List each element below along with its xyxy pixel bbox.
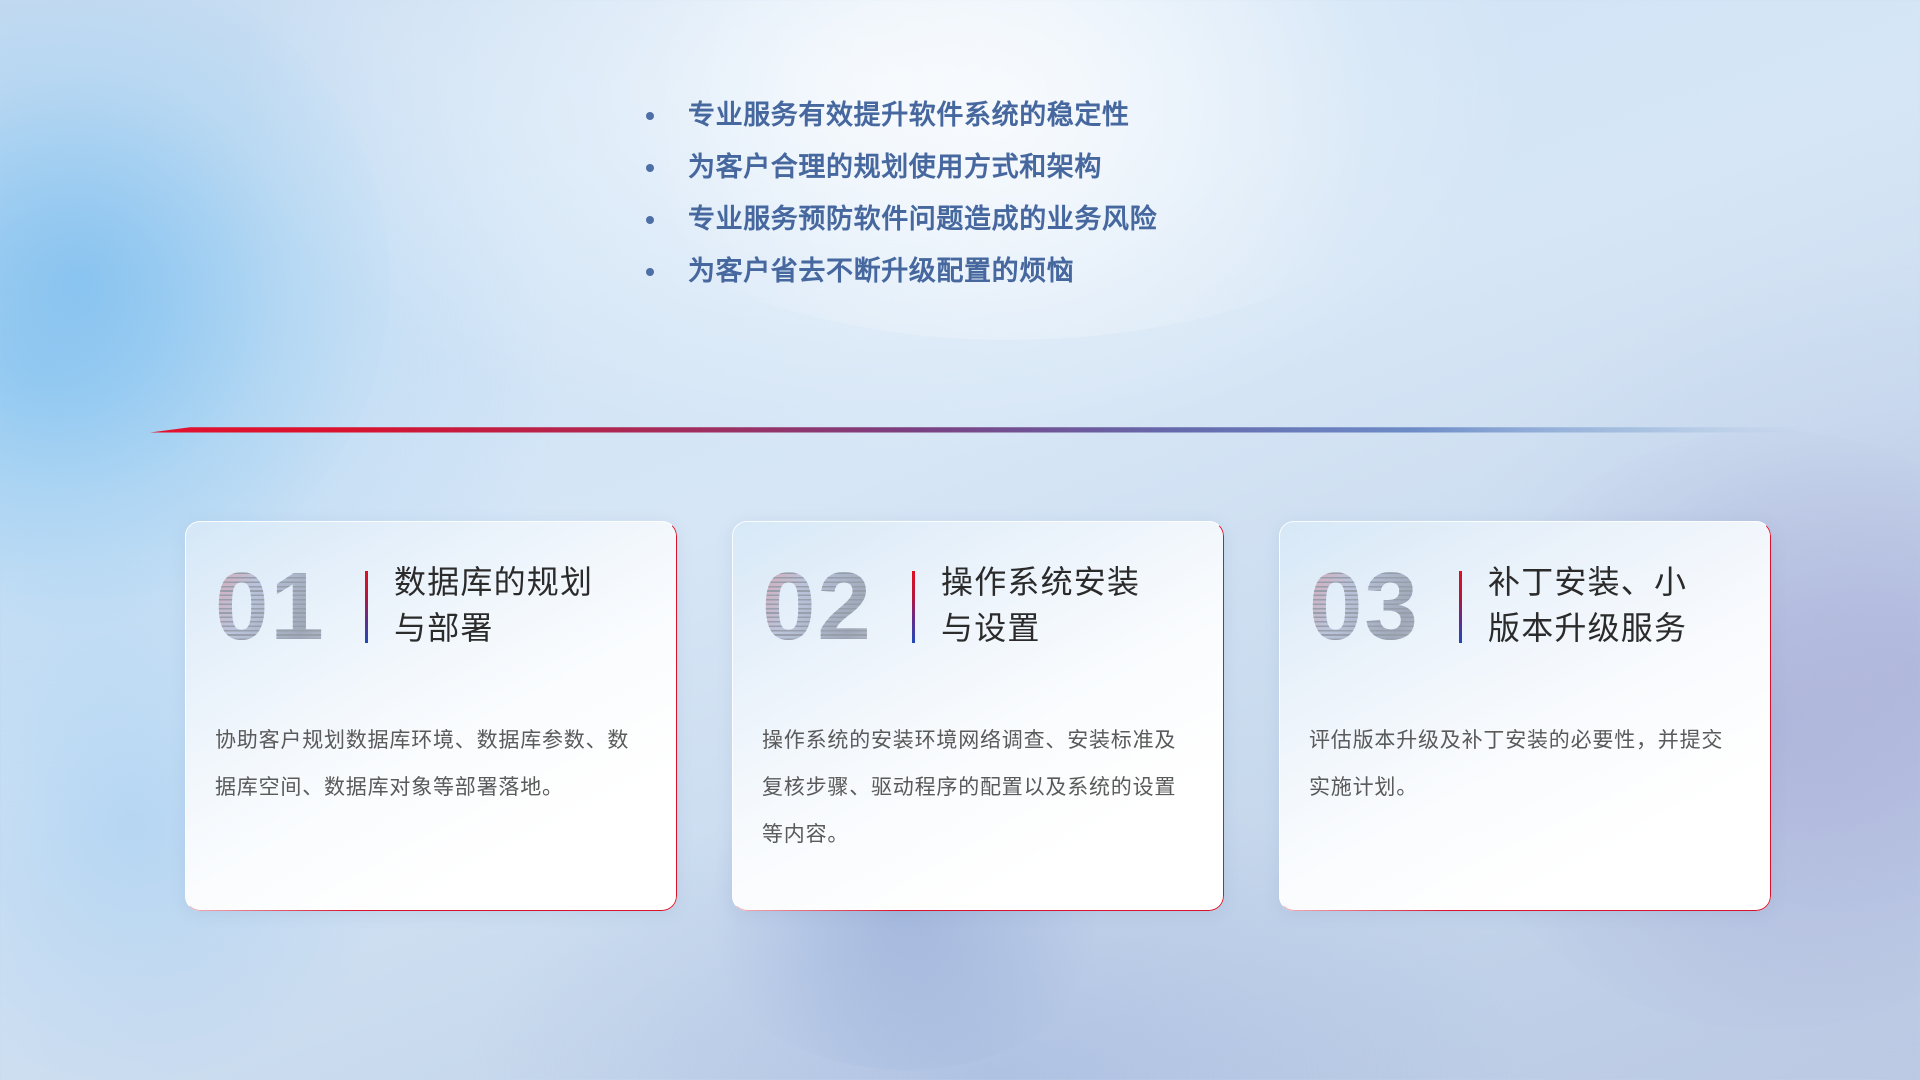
card-title-line-2: 与部署 <box>394 605 593 651</box>
card-number: 03 <box>1309 555 1459 665</box>
bullet-text: 专业服务有效提升软件系统的稳定性 <box>688 96 1130 134</box>
service-card-row: 01 数据库的规划 与部署 协助客户规划数据库环境、数据库参数、数据库空间、数据… <box>185 521 1771 911</box>
section-divider <box>150 418 1810 442</box>
card-title: 数据库的规划 与部署 <box>394 555 593 665</box>
card-number: 02 <box>762 555 912 665</box>
service-card[interactable]: 01 数据库的规划 与部署 协助客户规划数据库环境、数据库参数、数据库空间、数据… <box>185 521 677 911</box>
bullet-dot-icon <box>646 112 654 120</box>
bullet-dot-icon <box>646 164 654 172</box>
bullet-text: 专业服务预防软件问题造成的业务风险 <box>688 200 1157 238</box>
list-item: 为客户合理的规划使用方式和架构 <box>646 148 1546 200</box>
bullet-text: 为客户合理的规划使用方式和架构 <box>688 148 1102 186</box>
list-item: 为客户省去不断升级配置的烦恼 <box>646 252 1546 304</box>
divider-shape-icon <box>150 418 1810 442</box>
card-body-text: 操作系统的安装环境网络调查、安装标准及复核步骤、驱动程序的配置以及系统的设置等内… <box>762 717 1196 858</box>
card-title-line-2: 版本升级服务 <box>1488 605 1687 651</box>
card-title-line-1: 数据库的规划 <box>394 559 593 605</box>
card-accent-bar <box>365 571 368 643</box>
card-body-text: 评估版本升级及补丁安装的必要性，并提交实施计划。 <box>1309 717 1743 811</box>
card-title: 操作系统安装 与设置 <box>941 555 1140 665</box>
service-card[interactable]: 03 补丁安装、小 版本升级服务 评估版本升级及补丁安装的必要性，并提交实施计划… <box>1279 521 1771 911</box>
list-item: 专业服务有效提升软件系统的稳定性 <box>646 96 1546 148</box>
card-header: 01 数据库的规划 与部署 <box>185 555 677 665</box>
card-header: 03 补丁安装、小 版本升级服务 <box>1279 555 1771 665</box>
card-title-line-1: 操作系统安装 <box>941 559 1140 605</box>
card-body-text: 协助客户规划数据库环境、数据库参数、数据库空间、数据库对象等部署落地。 <box>215 717 649 811</box>
card-number: 01 <box>215 555 365 665</box>
card-title-line-1: 补丁安装、小 <box>1488 559 1687 605</box>
card-accent-bar <box>912 571 915 643</box>
bullet-text: 为客户省去不断升级配置的烦恼 <box>688 252 1074 290</box>
background-glow-top-left <box>0 0 390 600</box>
card-title-line-2: 与设置 <box>941 605 1140 651</box>
list-item: 专业服务预防软件问题造成的业务风险 <box>646 200 1546 252</box>
card-title: 补丁安装、小 版本升级服务 <box>1488 555 1687 665</box>
card-number-text: 02 <box>762 555 912 659</box>
bullet-dot-icon <box>646 268 654 276</box>
benefits-bullet-list: 专业服务有效提升软件系统的稳定性 为客户合理的规划使用方式和架构 专业服务预防软… <box>646 96 1546 304</box>
service-card[interactable]: 02 操作系统安装 与设置 操作系统的安装环境网络调查、安装标准及复核步骤、驱动… <box>732 521 1224 911</box>
bullet-dot-icon <box>646 216 654 224</box>
card-header: 02 操作系统安装 与设置 <box>732 555 1224 665</box>
card-number-text: 03 <box>1309 555 1459 659</box>
card-number-text: 01 <box>215 555 365 659</box>
card-accent-bar <box>1459 571 1462 643</box>
